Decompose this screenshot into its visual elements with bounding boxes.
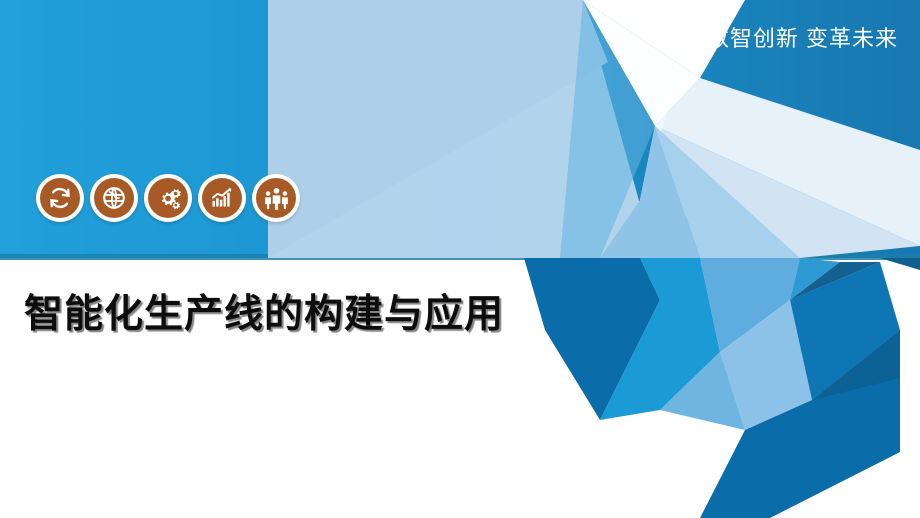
icon-badge-people-group[interactable] xyxy=(252,174,300,222)
tagline: 数智创新 变革未来 xyxy=(707,28,898,50)
icon-badge-bar-chart-growth[interactable] xyxy=(198,174,246,222)
icon-row xyxy=(36,174,300,222)
icon-badge-gears[interactable] xyxy=(144,174,192,222)
globe-icon xyxy=(94,178,134,218)
gears-icon xyxy=(148,178,188,218)
bar-chart-growth-icon xyxy=(202,178,242,218)
people-group-icon xyxy=(256,178,296,218)
background-artwork xyxy=(0,0,920,518)
presentation-title-slide: 数智创新 变革未来 xyxy=(0,0,920,518)
icon-badge-refresh-cycle[interactable] xyxy=(36,174,84,222)
refresh-cycle-icon xyxy=(40,178,80,218)
page-title: 智能化生产线的构建与应用 xyxy=(24,293,504,338)
icon-badge-globe[interactable] xyxy=(90,174,138,222)
